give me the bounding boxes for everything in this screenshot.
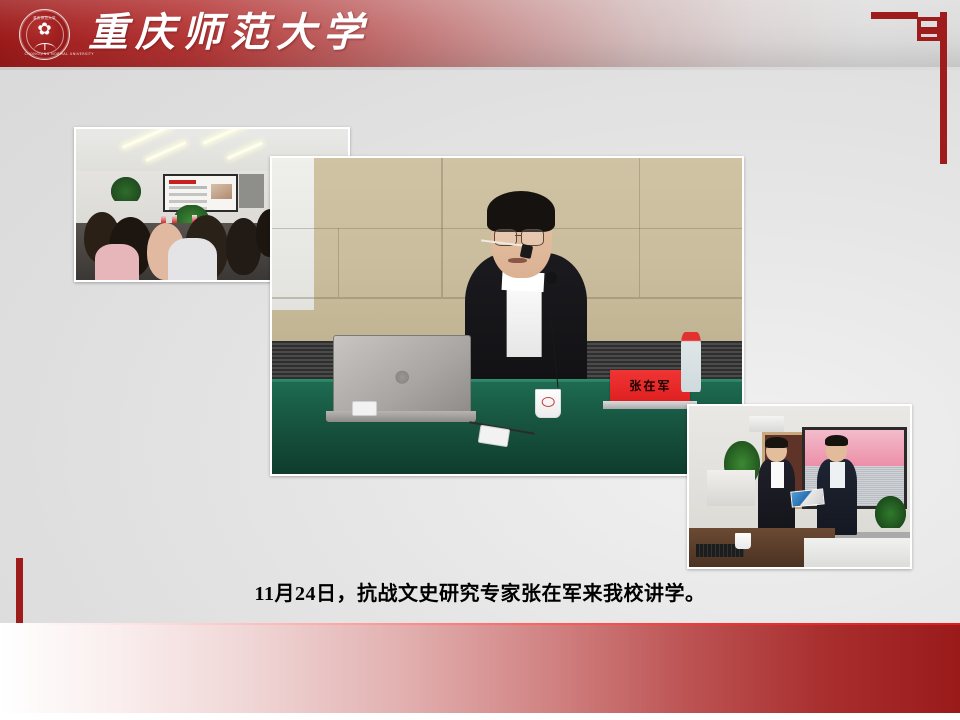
nameplate-stand: [603, 401, 697, 409]
person-left-hair: [765, 437, 788, 448]
nameplate-text: 张在军: [610, 370, 690, 402]
university-seal-logo: 重庆师范大学 ✿ CHONGQING NORMAL UNIVERSITY: [19, 9, 70, 60]
slide-image: [211, 184, 232, 199]
eyeglass-lens: [521, 229, 544, 246]
audience-person: [95, 244, 139, 280]
bottom-white-edge: [0, 713, 960, 720]
water-bottle: [681, 332, 701, 392]
speaker-mouth: [508, 258, 527, 264]
person-left-shirt: [771, 462, 784, 488]
foreground-desk-light: [804, 538, 910, 567]
seal-arc-bottom-text: CHONGQING NORMAL UNIVERSITY: [25, 52, 65, 56]
paper-cup: [535, 389, 561, 418]
university-name-title: 重庆师范大学: [88, 6, 370, 60]
slide-caption: 11月24日，抗战文史研究专家张在军来我校讲学。: [0, 577, 960, 606]
slide-canvas: 重庆师范大学 ✿ CHONGQING NORMAL UNIVERSITY 重庆师…: [0, 0, 960, 720]
open-book-icon: [34, 43, 56, 50]
air-conditioner: [749, 416, 784, 432]
wall-panel-seam: [338, 228, 340, 298]
gift-book: [790, 488, 824, 508]
person-right-hair: [825, 435, 848, 446]
power-adapter: [352, 401, 378, 416]
paper-cup: [735, 533, 750, 549]
laptop-base: [326, 411, 476, 422]
cabinet: [239, 174, 263, 207]
ornament-square-icon: [917, 17, 941, 41]
lotus-flame-icon: ✿: [36, 20, 53, 39]
wall-panel-seam: [441, 158, 443, 297]
photo-gift-exchange: [687, 404, 912, 569]
microphone-head: [546, 272, 557, 285]
audience-person: [168, 238, 217, 280]
slide-title-bar: [169, 180, 196, 184]
ornament-bar: [940, 12, 947, 164]
screen-title-area: [805, 430, 904, 466]
top-right-corner-ornament: [871, 12, 951, 164]
cup-logo-icon: [542, 397, 555, 407]
potted-plant: [875, 496, 906, 528]
photo-speaker-lecture: 张在军: [270, 156, 744, 476]
laptop-logo: [395, 371, 409, 384]
speaker-nameplate: 张在军: [610, 370, 690, 402]
person-right-shirt: [830, 462, 844, 488]
side-wall: [272, 158, 314, 310]
wall-panel-seam: [639, 158, 641, 297]
eyeglass-bridge: [515, 235, 523, 236]
potted-plant: [111, 177, 141, 201]
header-underline: [0, 67, 960, 70]
office-cabinet: [707, 470, 756, 505]
ornament-bar: [871, 12, 918, 19]
slide-text-lines: [169, 186, 207, 189]
speaker-hair: [487, 191, 555, 232]
bottom-gradient-band: [0, 625, 960, 713]
